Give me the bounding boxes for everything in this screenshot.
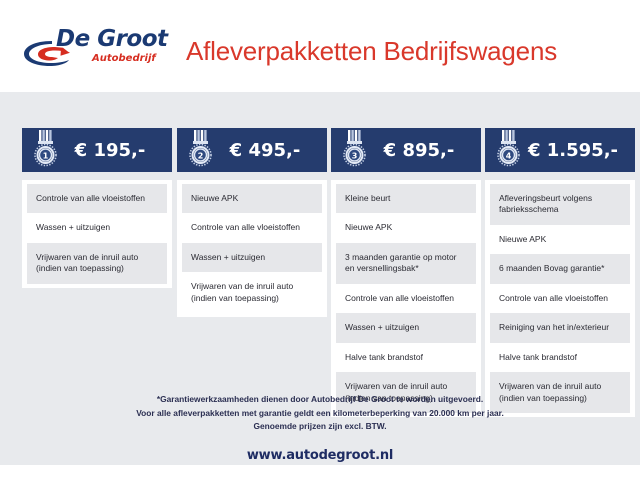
price-header-1: 1 € 195,- — [22, 128, 172, 172]
page-footer: *Garantiewerkzaamheden dienen door Autob… — [0, 393, 640, 463]
website-link[interactable]: www.autodegroot.nl — [0, 448, 640, 463]
package-card-1[interactable]: 1 € 195,- Controle van alle vloeistoffen… — [22, 128, 172, 288]
feature-item: Vrijwaren van de inruil auto (indien van… — [182, 272, 322, 313]
medal-icon: 1 — [31, 130, 59, 170]
price-header-3: 3 € 895,- — [331, 128, 481, 172]
medal-rank-2: 2 — [198, 151, 204, 160]
package-card-3[interactable]: 3 € 895,- Kleine beurt Nieuwe APK 3 maan… — [331, 128, 481, 417]
package-card-4[interactable]: 4 € 1.595,- Afleveringsbeurt volgens fab… — [485, 128, 635, 417]
feature-list-4: Afleveringsbeurt volgens fabrieksschema … — [485, 180, 635, 417]
feature-item: Wassen + uitzuigen — [27, 213, 167, 242]
feature-item: Halve tank brandstof — [336, 343, 476, 372]
feature-item: Controle van alle vloeistoffen — [336, 284, 476, 313]
company-logo[interactable]: De Groot Autobedrijf — [22, 28, 172, 72]
feature-list-3: Kleine beurt Nieuwe APK 3 maanden garant… — [331, 180, 481, 417]
feature-item: Nieuwe APK — [336, 213, 476, 242]
feature-item: Halve tank brandstof — [490, 343, 630, 372]
logo-name: De Groot — [56, 28, 168, 51]
feature-list-1: Controle van alle vloeistoffen Wassen + … — [22, 180, 172, 288]
feature-item: Controle van alle vloeistoffen — [182, 213, 322, 242]
package-columns: 1 € 195,- Controle van alle vloeistoffen… — [0, 128, 640, 393]
feature-item: Nieuwe APK — [182, 184, 322, 213]
bottom-strip — [0, 465, 640, 480]
feature-item: Kleine beurt — [336, 184, 476, 213]
feature-item: Reiniging van het in/exterieur — [490, 313, 630, 342]
package-card-2[interactable]: 2 € 495,- Nieuwe APK Controle van alle v… — [177, 128, 327, 317]
medal-rank-4: 4 — [506, 151, 512, 160]
feature-list-2: Nieuwe APK Controle van alle vloeistoffe… — [177, 180, 327, 317]
feature-item: Afleveringsbeurt volgens fabrieksschema — [490, 184, 630, 225]
feature-item: Nieuwe APK — [490, 225, 630, 254]
medal-rank-3: 3 — [352, 151, 358, 160]
feature-item: 6 maanden Bovag garantie* — [490, 254, 630, 283]
medal-icon: 2 — [186, 130, 214, 170]
feature-item: 3 maanden garantie op motor en versnelli… — [336, 243, 476, 284]
feature-item: Wassen + uitzuigen — [182, 243, 322, 272]
medal-icon: 3 — [340, 130, 368, 170]
medal-icon: 4 — [494, 130, 522, 170]
feature-item: Controle van alle vloeistoffen — [27, 184, 167, 213]
footnote-line: *Garantiewerkzaamheden dienen door Autob… — [0, 393, 640, 407]
footnote-line: Voor alle afleverpakketten met garantie … — [0, 407, 640, 421]
price-header-4: 4 € 1.595,- — [485, 128, 635, 172]
page-title: Afleverpakketten Bedrijfswagens — [186, 36, 557, 67]
footnote-line: Genoemde prijzen zijn excl. BTW. — [0, 420, 640, 434]
feature-item: Wassen + uitzuigen — [336, 313, 476, 342]
price-header-2: 2 € 495,- — [177, 128, 327, 172]
medal-rank-1: 1 — [43, 151, 49, 160]
feature-item: Controle van alle vloeistoffen — [490, 284, 630, 313]
feature-item: Vrijwaren van de inruil auto (indien van… — [27, 243, 167, 284]
logo-subtitle: Autobedrijf — [92, 54, 156, 64]
page-header: De Groot Autobedrijf Afleverpakketten Be… — [0, 0, 640, 92]
